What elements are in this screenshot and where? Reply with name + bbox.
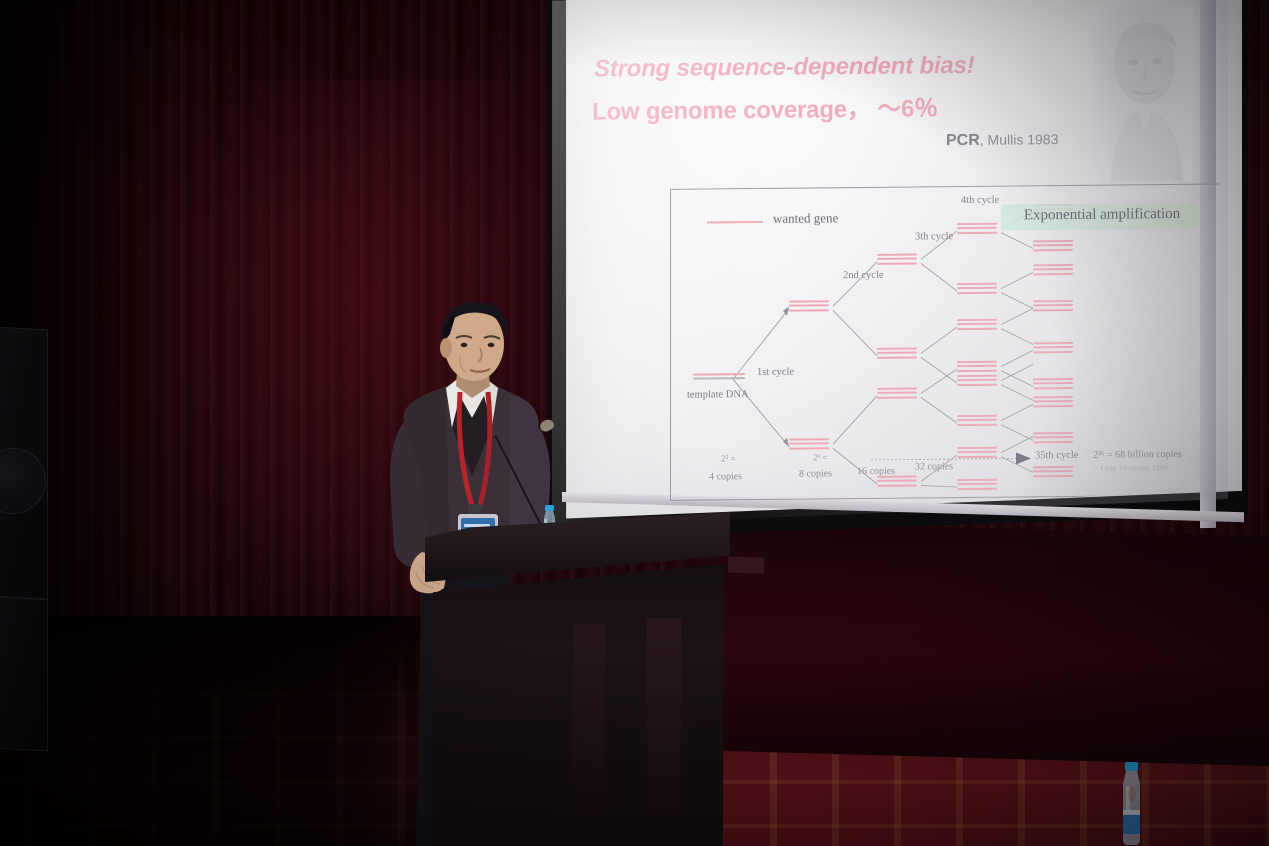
dna-strand [789, 438, 829, 449]
final-copy-count: 2³⁶ = 68 billion copies [1093, 449, 1182, 461]
dna-strand [877, 387, 917, 398]
slide-bullet-bias: Strong sequence-dependent bias! [594, 52, 975, 84]
dna-strand [1033, 264, 1073, 275]
dna-strand [957, 283, 997, 294]
slide-content: amplification by PCR Strong sequence-dep… [548, 0, 1248, 539]
dna-strand [789, 300, 829, 311]
exponential-amplification-label: Exponential amplification [1009, 206, 1195, 225]
dna-strand [957, 479, 997, 490]
water-bottle-floor[interactable] [1118, 762, 1144, 846]
label-3rd-cycle: 3th cycle [915, 231, 953, 242]
label-35th-cycle: 35th cycle [1035, 450, 1078, 461]
dna-strand [957, 361, 997, 372]
copies-4: 4 copies [709, 471, 742, 482]
dna-template [693, 373, 745, 384]
podium-panel [573, 624, 605, 814]
riser-vent [728, 556, 764, 573]
dna-strand [957, 223, 997, 234]
copies-32: 32 copies [915, 461, 953, 472]
dna-strand [1033, 466, 1073, 477]
kary-mullis-portrait [1093, 6, 1193, 182]
dna-strand [957, 375, 997, 386]
label-template-dna: template DNA [687, 389, 749, 401]
loudspeaker-lower [0, 597, 48, 752]
dna-strand [957, 447, 997, 458]
dna-strand [957, 319, 997, 330]
slide-credit: PCR, Mullis 1983 [946, 131, 1058, 150]
slide-bullet-coverage: Low genome coverage， ～6％ [592, 88, 938, 126]
credit-author-year: , Mullis 1983 [980, 131, 1059, 148]
credit-pcr-label: PCR [946, 132, 980, 149]
label-4th-cycle: 4th cycle [961, 195, 999, 206]
label-2nd-cycle: 2nd cycle [843, 270, 884, 281]
exponent-2-squared: 2² = [721, 453, 736, 463]
exponent-2-cubed: 2³ = [813, 452, 828, 462]
diagram-source-citation: Only Vermeme 1999 [1101, 463, 1168, 473]
label-1st-cycle: 1st cycle [757, 367, 794, 378]
pcr-amplification-diagram: wanted gene [670, 184, 1224, 501]
copies-16: 16 copies [857, 466, 895, 477]
dna-strand [877, 475, 917, 486]
dna-strand [1033, 396, 1073, 407]
dna-strand [1033, 240, 1073, 251]
dna-strand [1033, 342, 1073, 353]
dna-strand [877, 347, 917, 358]
podium-lectern [425, 512, 730, 846]
dna-strand [877, 253, 917, 264]
podium-panel [647, 618, 681, 814]
copies-8: 8 copies [799, 468, 832, 479]
dna-strand [1033, 432, 1073, 443]
stage-riser [690, 520, 1269, 766]
dna-strand [957, 415, 997, 426]
dna-strand [1033, 300, 1073, 311]
presentation-photo: amplification by PCR Strong sequence-dep… [0, 0, 1269, 846]
dna-strand [1033, 378, 1073, 389]
